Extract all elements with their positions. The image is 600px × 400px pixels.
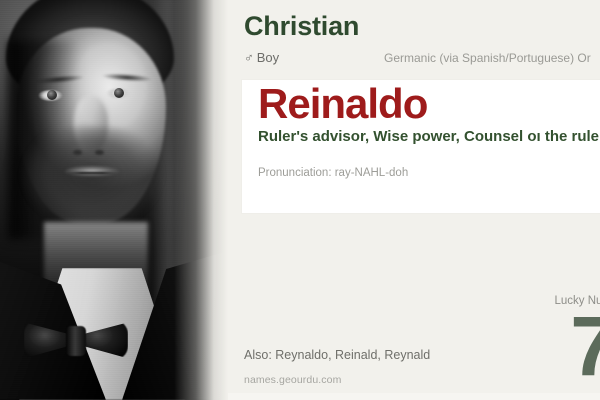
origin-label: Germanic (via Spanish/Portuguese) Or: [384, 51, 591, 65]
content-panel: Christian ♂Boy Germanic (via Spanish/Por…: [228, 0, 600, 400]
male-gender-icon: ♂: [244, 50, 254, 65]
pronunciation-text: Pronunciation: ray-NAHL-doh: [258, 167, 408, 179]
gender-label: ♂Boy: [244, 50, 384, 65]
lucky-number-block: Lucky Num 7: [424, 296, 600, 382]
related-name-heading: Christian: [244, 12, 600, 40]
subheader-row: ♂Boy Germanic (via Spanish/Portuguese) O…: [244, 50, 600, 65]
alternate-names-text: Also: Reynaldo, Reinald, Reynald: [244, 348, 430, 362]
header-row: Christian: [244, 12, 600, 40]
name-meaning-text: Ruler's advisor, Wise power, Counsel oı …: [258, 128, 600, 147]
photo-edge-fade: [174, 0, 228, 400]
name-card: Reinaldo Ruler's advisor, Wise power, Co…: [242, 80, 600, 213]
lucky-number-value: 7: [424, 310, 600, 382]
source-website-text: names.geourdu.com: [244, 374, 341, 386]
primary-name-heading: Reinaldo: [258, 81, 427, 126]
name-meaning-card-screenshot: Christian ♂Boy Germanic (via Spanish/Por…: [0, 0, 600, 400]
gender-text: Boy: [257, 50, 279, 65]
portrait-photo: [0, 0, 228, 400]
bottom-strip: [228, 393, 600, 400]
